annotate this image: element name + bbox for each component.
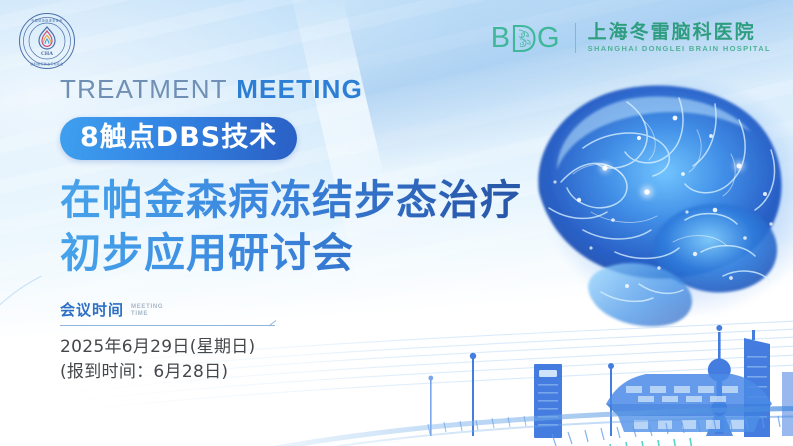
logo-divider — [575, 23, 576, 53]
headline-line-2: 初步应用研讨会 — [60, 227, 580, 280]
hospital-name-cn: 上海冬雷脑科医院 — [588, 23, 771, 43]
cha-ring-text-top: 中国健康促进基金会 — [31, 17, 62, 22]
meeting-time-block: 会议时间 MEETING TIME 2025年6月29日(星期日) (报到时间：… — [60, 303, 310, 384]
meeting-time-label-en: MEETING TIME — [131, 304, 163, 318]
cha-ring-text-bottom: 脑科疾病防治专项基金 — [31, 61, 64, 66]
bdg-brain-d-icon — [511, 24, 537, 53]
cha-logo: CHA 中国健康促进基金会 脑科疾病防治专项基金 — [18, 12, 76, 70]
technology-badge: 8触点DBS技术 — [60, 117, 297, 160]
hospital-name-en: SHANGHAI DONGLEI BRAIN HOSPITAL — [588, 45, 771, 53]
meeting-time-label-en-line2: TIME — [131, 311, 163, 317]
main-content: TREATMENT MEETING 8触点DBS技术 在帕金森病冻结步态治疗 初… — [60, 76, 580, 281]
bdg-hospital-logo: B G 上海冬雷脑科医院 — [491, 16, 771, 60]
headline-line-1: 在帕金森病冻结步态治疗 — [60, 174, 580, 227]
meeting-date-primary: 2025年6月29日(星期日) — [60, 335, 310, 360]
meeting-time-divider — [60, 325, 275, 326]
cha-abbreviation: CHA — [41, 51, 53, 57]
eyebrow-word-treatment: TREATMENT — [60, 74, 228, 104]
meeting-dates: 2025年6月29日(星期日) (报到时间：6月28日) — [60, 335, 310, 384]
bdg-letter-g: G — [537, 24, 561, 53]
meeting-time-label-cn: 会议时间 — [60, 303, 124, 318]
conference-poster: CHA 中国健康促进基金会 脑科疾病防治专项基金 B — [0, 0, 793, 446]
bdg-letter-b: B — [491, 24, 511, 53]
meeting-date-secondary: (报到时间：6月28日) — [60, 360, 310, 385]
meeting-time-header: 会议时间 MEETING TIME — [60, 303, 310, 318]
eyebrow-heading: TREATMENT MEETING — [60, 76, 580, 102]
eyebrow-word-meeting: MEETING — [236, 74, 363, 104]
bdg-wordmark: B G — [491, 24, 561, 53]
